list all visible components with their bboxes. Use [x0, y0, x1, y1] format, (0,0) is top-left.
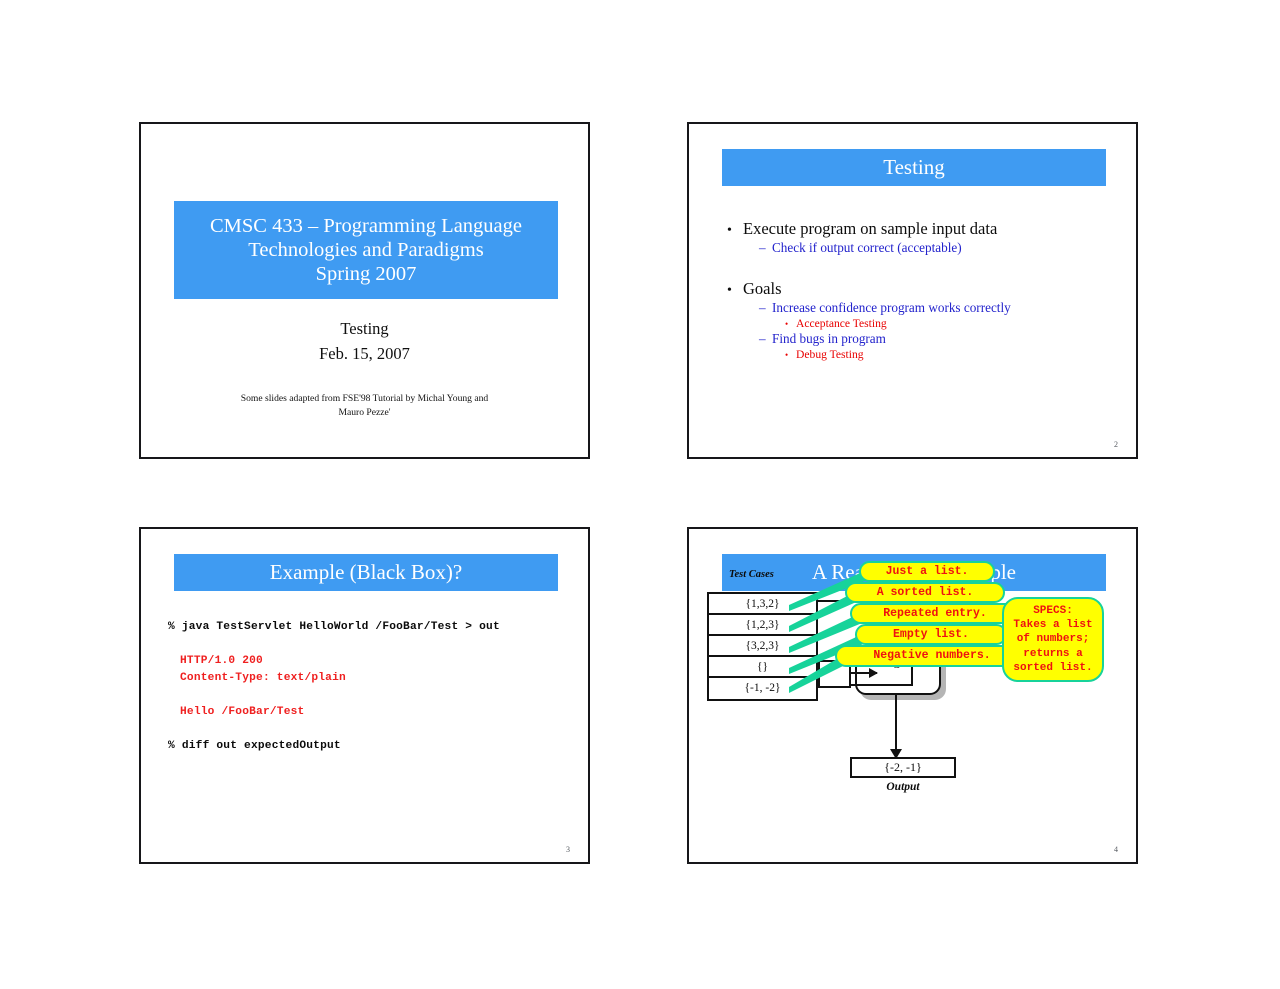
specs-line-3: of numbers;	[1017, 632, 1090, 646]
callout-negative-numbers: Negative numbers.	[835, 645, 1029, 667]
slide-4: A Real Testing Example Test Cases {1	[687, 527, 1138, 864]
callout-repeated-entry: Repeated entry.	[850, 603, 1020, 624]
bullet-marker: –	[759, 331, 772, 347]
credit-line-2: Mauro Pezze'	[181, 406, 548, 420]
title-line-3: Spring 2007	[316, 262, 417, 286]
slide-1-subtitle: Testing	[141, 319, 588, 339]
code-blank-line	[168, 639, 576, 656]
specs-line-1: SPECS:	[1033, 604, 1073, 618]
credit-line-1: Some slides adapted from FSE'98 Tutorial…	[181, 392, 548, 406]
bullet-marker: •	[785, 319, 796, 329]
bullet-item: • Execute program on sample input data	[727, 219, 1116, 239]
specs-callout: SPECS: Takes a list of numbers; returns …	[1002, 597, 1104, 682]
bullet-marker: •	[727, 283, 743, 299]
bullet-item: – Increase confidence program works corr…	[759, 300, 1116, 316]
bullet-text: Check if output correct (acceptable)	[772, 240, 1116, 256]
bullet-marker: –	[759, 300, 772, 316]
bullet-gap	[727, 257, 1116, 279]
title-line-2: Technologies and Paradigms	[248, 238, 483, 262]
code-line: % java TestServlet HelloWorld /FooBar/Te…	[168, 622, 576, 639]
bullet-item: • Acceptance Testing	[785, 317, 1116, 330]
specs-line-4: returns a	[1023, 647, 1082, 661]
bullet-text: Find bugs in program	[772, 331, 1116, 347]
slide-2-title-banner: Testing	[722, 149, 1106, 186]
bullet-text: Debug Testing	[796, 348, 1116, 361]
callout-a-sorted-list: A sorted list.	[845, 582, 1005, 603]
callout-empty-list: Empty list.	[855, 624, 1007, 645]
slide-3-title: Example (Black Box)?	[270, 560, 462, 585]
callout-just-a-list: Just a list.	[859, 561, 995, 582]
bullet-text: Acceptance Testing	[796, 317, 1116, 330]
bullet-marker: •	[785, 350, 796, 360]
slide-2: Testing • Execute program on sample inpu…	[687, 122, 1138, 459]
code-line: Hello /FooBar/Test	[168, 707, 576, 724]
bullet-item: • Goals	[727, 279, 1116, 299]
code-line: HTTP/1.0 200	[168, 656, 576, 673]
testing-example-diagram: Test Cases {1,3,2} {1,2,3} {3,2,3} {} {-…	[689, 529, 1136, 862]
slide-1-credit: Some slides adapted from FSE'98 Tutorial…	[181, 392, 548, 420]
slide-1-date: Feb. 15, 2007	[141, 344, 588, 364]
slide-2-title: Testing	[883, 155, 945, 180]
bullet-item: – Find bugs in program	[759, 331, 1116, 347]
specs-line-2: Takes a list	[1013, 618, 1092, 632]
code-line: Content-Type: text/plain	[168, 673, 576, 690]
bullet-marker: –	[759, 240, 772, 256]
bullet-item: • Debug Testing	[785, 348, 1116, 361]
title-line-1: CMSC 433 – Programming Language	[210, 214, 522, 238]
slide-3-code-block: % java TestServlet HelloWorld /FooBar/Te…	[168, 622, 576, 758]
bullet-marker: •	[727, 223, 743, 239]
code-line: % diff out expectedOutput	[168, 741, 576, 758]
handout-page: CMSC 433 – Programming Language Technolo…	[0, 0, 1280, 989]
slide-3: Example (Black Box)? % java TestServlet …	[139, 527, 590, 864]
slide-2-page-number: 2	[1114, 440, 1118, 449]
bullet-item: – Check if output correct (acceptable)	[759, 240, 1116, 256]
slide-2-bullet-list: • Execute program on sample input data –…	[727, 219, 1116, 362]
slide-3-page-number: 3	[566, 845, 570, 854]
bullet-text: Execute program on sample input data	[743, 219, 1116, 239]
slide-1-title-banner: CMSC 433 – Programming Language Technolo…	[174, 201, 558, 299]
bullet-text: Increase confidence program works correc…	[772, 300, 1116, 316]
specs-line-5: sorted list.	[1013, 661, 1092, 675]
slide-3-title-banner: Example (Black Box)?	[174, 554, 558, 591]
code-blank-line	[168, 724, 576, 741]
slide-1: CMSC 433 – Programming Language Technolo…	[139, 122, 590, 459]
bullet-text: Goals	[743, 279, 1116, 299]
code-blank-line	[168, 690, 576, 707]
